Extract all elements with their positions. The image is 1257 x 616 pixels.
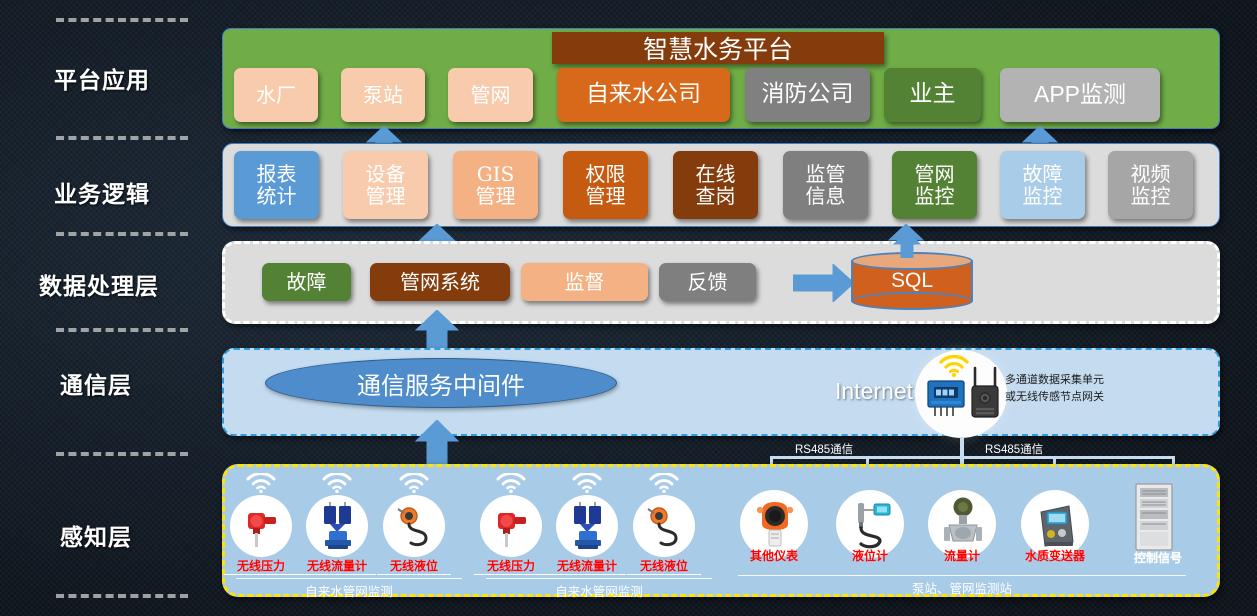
data-item-pipe-system[interactable]: 管网系统 xyxy=(370,263,510,301)
control-cabinet-icon xyxy=(1132,482,1176,554)
gas-detector-icon xyxy=(754,496,796,550)
separator-6 xyxy=(56,594,188,598)
node-underline xyxy=(474,574,548,575)
business-item-label: GIS 管理 xyxy=(476,163,516,208)
platform-item-label: 泵站 xyxy=(363,84,403,106)
architecture-diagram: 平台应用 业务逻辑 数据处理层 通信层 感知层 智慧水务平台 水厂 泵站 管网 … xyxy=(0,0,1257,616)
group-caption-3: 泵站、管网监测站 xyxy=(738,578,1186,597)
platform-item-label: 自来水公司 xyxy=(586,82,701,108)
arrow-sense-to-comm xyxy=(415,420,459,464)
business-item-label: 权限 管理 xyxy=(586,163,626,208)
layer-label-comm: 通信层 xyxy=(60,366,132,400)
turbine-meter-icon xyxy=(939,495,987,551)
data-item-feedback[interactable]: 反馈 xyxy=(659,263,756,301)
data-item-fault[interactable]: 故障 xyxy=(262,263,351,301)
platform-title-banner: 智慧水务平台 xyxy=(552,32,884,64)
middleware-label: 通信服务中间件 xyxy=(357,366,525,401)
platform-item-label: 业主 xyxy=(910,82,956,108)
group-caption-2: 自来水管网监测 xyxy=(486,581,712,600)
flow-meter-icon xyxy=(567,501,609,551)
platform-item-pipe-network[interactable]: 管网 xyxy=(448,68,533,122)
wifi-icon-4 xyxy=(495,473,527,493)
layer-label-business: 业务逻辑 xyxy=(54,175,150,209)
node-label: 无线流量计 xyxy=(297,557,377,574)
wifi-icon-3 xyxy=(398,473,430,493)
layer-label-platform: 平台应用 xyxy=(54,61,150,95)
node-label: 无线流量计 xyxy=(547,557,627,574)
data-item-label: 故障 xyxy=(287,271,327,293)
pressure-sensor-icon xyxy=(242,505,282,549)
rs485-label-right: RS485通信 xyxy=(985,441,1043,457)
database-label: SQL xyxy=(851,252,973,310)
node-underline xyxy=(224,574,298,575)
business-item-fault-monitor[interactable]: 故障 监控 xyxy=(1000,151,1085,219)
business-item-supervision-info[interactable]: 监管 信息 xyxy=(783,151,868,219)
layer-label-sense: 感知层 xyxy=(60,518,132,552)
business-item-online-check[interactable]: 在线 查岗 xyxy=(673,151,758,219)
node-underline xyxy=(548,574,626,575)
data-item-supervision[interactable]: 监督 xyxy=(521,263,648,301)
business-item-device-mgmt[interactable]: 设备 管理 xyxy=(343,151,428,219)
platform-item-label: APP监测 xyxy=(1034,82,1126,108)
node-label: 液位计 xyxy=(830,547,910,564)
group-line-2 xyxy=(486,578,712,579)
arrow-comm-to-data xyxy=(415,310,459,352)
business-item-label: 管网 监控 xyxy=(915,163,955,208)
business-item-gis-mgmt[interactable]: GIS 管理 xyxy=(453,151,538,219)
level-sensor-icon xyxy=(392,505,438,549)
group-line-1 xyxy=(236,578,462,579)
data-item-label: 管网系统 xyxy=(400,271,480,293)
separator-2 xyxy=(56,136,188,140)
rs485-label-left: RS485通信 xyxy=(795,441,853,457)
sql-database-cylinder[interactable]: SQL xyxy=(851,252,973,310)
internet-label: Internet xyxy=(835,378,913,405)
node-label: 无线液位 xyxy=(374,557,454,574)
business-item-permission-mgmt[interactable]: 权限 管理 xyxy=(563,151,648,219)
node-underline xyxy=(298,574,376,575)
platform-item-water-company[interactable]: 自来水公司 xyxy=(557,68,730,122)
level-probe-icon xyxy=(846,498,896,550)
node-label: 流量计 xyxy=(922,547,1002,564)
gateway-note: 多通道数据采集单元 或无线传感节点网关 xyxy=(1005,372,1145,405)
node-label: 其他仪表 xyxy=(734,547,814,564)
business-item-label: 设备 管理 xyxy=(366,163,406,208)
platform-item-pump-station[interactable]: 泵站 xyxy=(341,68,425,122)
platform-item-label: 消防公司 xyxy=(762,82,854,108)
group-caption-1: 自来水管网监测 xyxy=(236,581,462,600)
separator-5 xyxy=(56,452,188,456)
pressure-sensor-icon xyxy=(492,505,532,549)
group-line-3 xyxy=(738,575,1186,576)
platform-item-owner[interactable]: 业主 xyxy=(884,68,981,122)
business-item-label: 在线 查岗 xyxy=(696,163,736,208)
wireless-gateway-icon xyxy=(967,365,1003,421)
data-item-label: 监督 xyxy=(565,271,605,293)
flow-meter-icon xyxy=(317,501,359,551)
node-label: 无线压力 xyxy=(221,557,301,574)
separator-3 xyxy=(56,232,188,236)
platform-item-label: 水厂 xyxy=(256,84,296,106)
platform-item-app-monitor[interactable]: APP监测 xyxy=(1000,68,1160,122)
business-item-label: 报表 统计 xyxy=(257,163,297,208)
arrow-to-database xyxy=(793,264,855,302)
node-label: 无线压力 xyxy=(471,557,551,574)
separator-1 xyxy=(56,18,188,22)
business-item-label: 故障 监控 xyxy=(1023,163,1063,208)
data-item-label: 反馈 xyxy=(688,271,728,293)
business-item-label: 监管 信息 xyxy=(806,163,846,208)
wifi-icon-6 xyxy=(648,473,680,493)
business-item-report-stats[interactable]: 报表 统计 xyxy=(234,151,319,219)
node-label: 控制信号 xyxy=(1114,549,1202,566)
wifi-icon-5 xyxy=(571,473,603,493)
platform-item-fire-company[interactable]: 消防公司 xyxy=(745,68,870,122)
platform-item-water-plant[interactable]: 水厂 xyxy=(234,68,318,122)
node-underline xyxy=(627,574,701,575)
wifi-icon-2 xyxy=(321,473,353,493)
gateway-wifi-icon xyxy=(938,355,970,377)
business-item-label: 视频 监控 xyxy=(1131,163,1171,208)
separator-4 xyxy=(56,328,188,332)
node-label: 水质变送器 xyxy=(1011,547,1099,564)
node-label: 无线液位 xyxy=(624,557,704,574)
business-item-video-monitor[interactable]: 视频 监控 xyxy=(1108,151,1193,219)
layer-label-data: 数据处理层 xyxy=(39,267,159,301)
wifi-icon-1 xyxy=(245,473,277,493)
level-sensor-icon xyxy=(642,505,688,549)
data-logger-icon xyxy=(925,378,969,420)
platform-item-label: 管网 xyxy=(471,84,511,106)
business-item-pipe-monitor[interactable]: 管网 监控 xyxy=(892,151,977,219)
node-underline xyxy=(377,574,451,575)
water-quality-icon xyxy=(1031,498,1081,550)
middleware-ellipse[interactable]: 通信服务中间件 xyxy=(265,358,617,408)
